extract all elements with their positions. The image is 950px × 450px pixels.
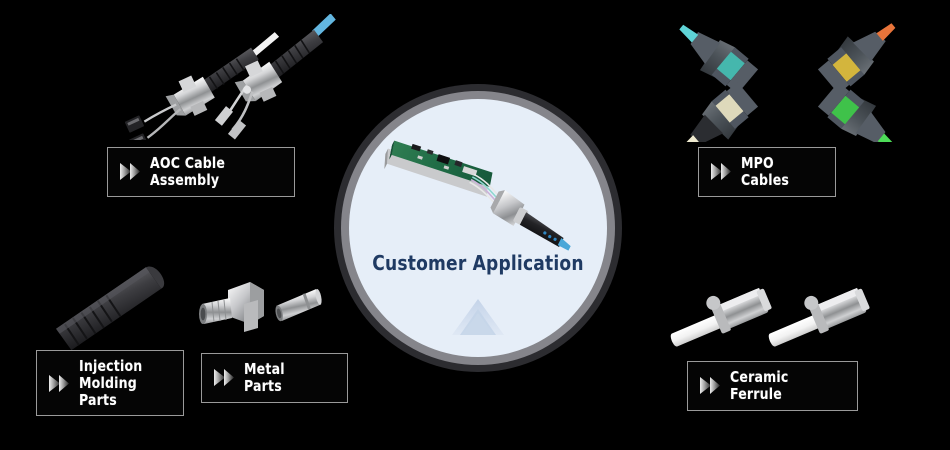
optical-transceiver-module-image (367, 133, 582, 263)
category-label: MPO Cables (741, 155, 815, 189)
metal-parts-image (192, 276, 332, 350)
chevron-up-icon (450, 295, 506, 339)
triangle-right-icon (213, 368, 235, 387)
category-label: Injection Molding Parts (79, 358, 163, 408)
triangle-right-icon (119, 162, 141, 181)
aoc-cable-assembly-image (96, 14, 342, 140)
product-map-canvas: Customer Application (0, 0, 950, 450)
category-chip-metal-parts[interactable]: Metal Parts (201, 353, 348, 403)
category-label: AOC Cable Assembly (150, 155, 271, 189)
category-label: Metal Parts (244, 361, 327, 395)
ceramic-ferrule-image (662, 266, 874, 362)
category-chip-mpo-cables[interactable]: MPO Cables (698, 147, 836, 197)
category-chip-aoc-cable-assembly[interactable]: AOC Cable Assembly (107, 147, 295, 197)
mpo-cables-image (664, 10, 914, 142)
hub-inner-disc: Customer Application (349, 99, 607, 357)
customer-application-hub[interactable]: Customer Application (334, 84, 622, 372)
hub-title: Customer Application (355, 251, 600, 275)
injection-molding-parts-image (34, 256, 214, 350)
triangle-right-icon (48, 374, 70, 393)
category-chip-ceramic-ferrule[interactable]: Ceramic Ferrule (687, 361, 858, 411)
category-label: Ceramic Ferrule (730, 369, 835, 403)
triangle-right-icon (699, 376, 721, 395)
category-chip-injection-molding-parts[interactable]: Injection Molding Parts (36, 350, 184, 416)
triangle-right-icon (710, 162, 732, 181)
